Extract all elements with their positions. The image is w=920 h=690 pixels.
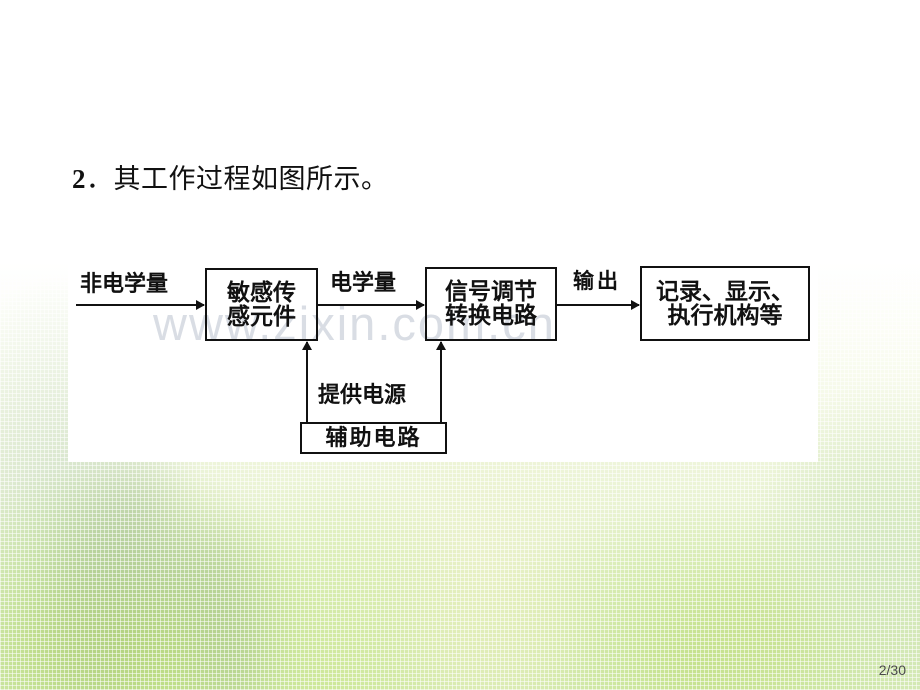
- edge-label-provide-power: 提供电源: [318, 377, 406, 409]
- arrow-aux-to-circuit: [440, 342, 442, 423]
- node-signal-conditioning-circuit[interactable]: 信号调节 转换电路: [425, 267, 557, 341]
- background-leaf-streak: [790, 470, 920, 640]
- slide: 2．其工作过程如图所示。 www.zixin.com.cn 非电学量 敏感传 感…: [0, 0, 920, 690]
- node-sensing-element-line1: 敏感传: [227, 281, 296, 305]
- node-record-display-actuator[interactable]: 记录、显示、 执行机构等: [640, 266, 810, 341]
- node-sensing-element-line2: 感元件: [227, 305, 296, 329]
- page-number: 2/30: [879, 662, 906, 678]
- edge-label-output: 输出: [573, 265, 621, 295]
- node-auxiliary-circuit[interactable]: 辅助电路: [300, 422, 447, 454]
- heading-text: 其工作过程如图所示。: [114, 164, 389, 194]
- arrow-sensor-to-circuit: [318, 304, 424, 306]
- slide-upper-white-area: [0, 0, 920, 253]
- heading-number: 2: [72, 164, 86, 194]
- node-auxiliary-circuit-line1: 辅助电路: [325, 427, 421, 450]
- sensor-workflow-diagram: 非电学量 敏感传 感元件 电学量 信号调节 转换电路 输出 记录、显示、 执行机…: [68, 253, 818, 462]
- node-signal-conditioning-circuit-line2: 转换电路: [445, 304, 537, 328]
- edge-label-non-electrical-quantity: 非电学量: [80, 266, 168, 298]
- arrow-input-to-sensor: [76, 304, 204, 306]
- node-record-display-actuator-line2: 执行机构等: [668, 304, 783, 328]
- edge-label-electrical-quantity: 电学量: [330, 265, 396, 297]
- arrow-aux-to-sensor: [306, 342, 308, 423]
- node-sensing-element[interactable]: 敏感传 感元件: [205, 268, 318, 341]
- arrow-circuit-to-output: [557, 304, 639, 306]
- node-record-display-actuator-line1: 记录、显示、: [656, 280, 794, 304]
- page-title: 2．其工作过程如图所示。: [72, 157, 389, 196]
- node-signal-conditioning-circuit-line1: 信号调节: [445, 280, 537, 304]
- heading-separator: ．: [86, 164, 114, 194]
